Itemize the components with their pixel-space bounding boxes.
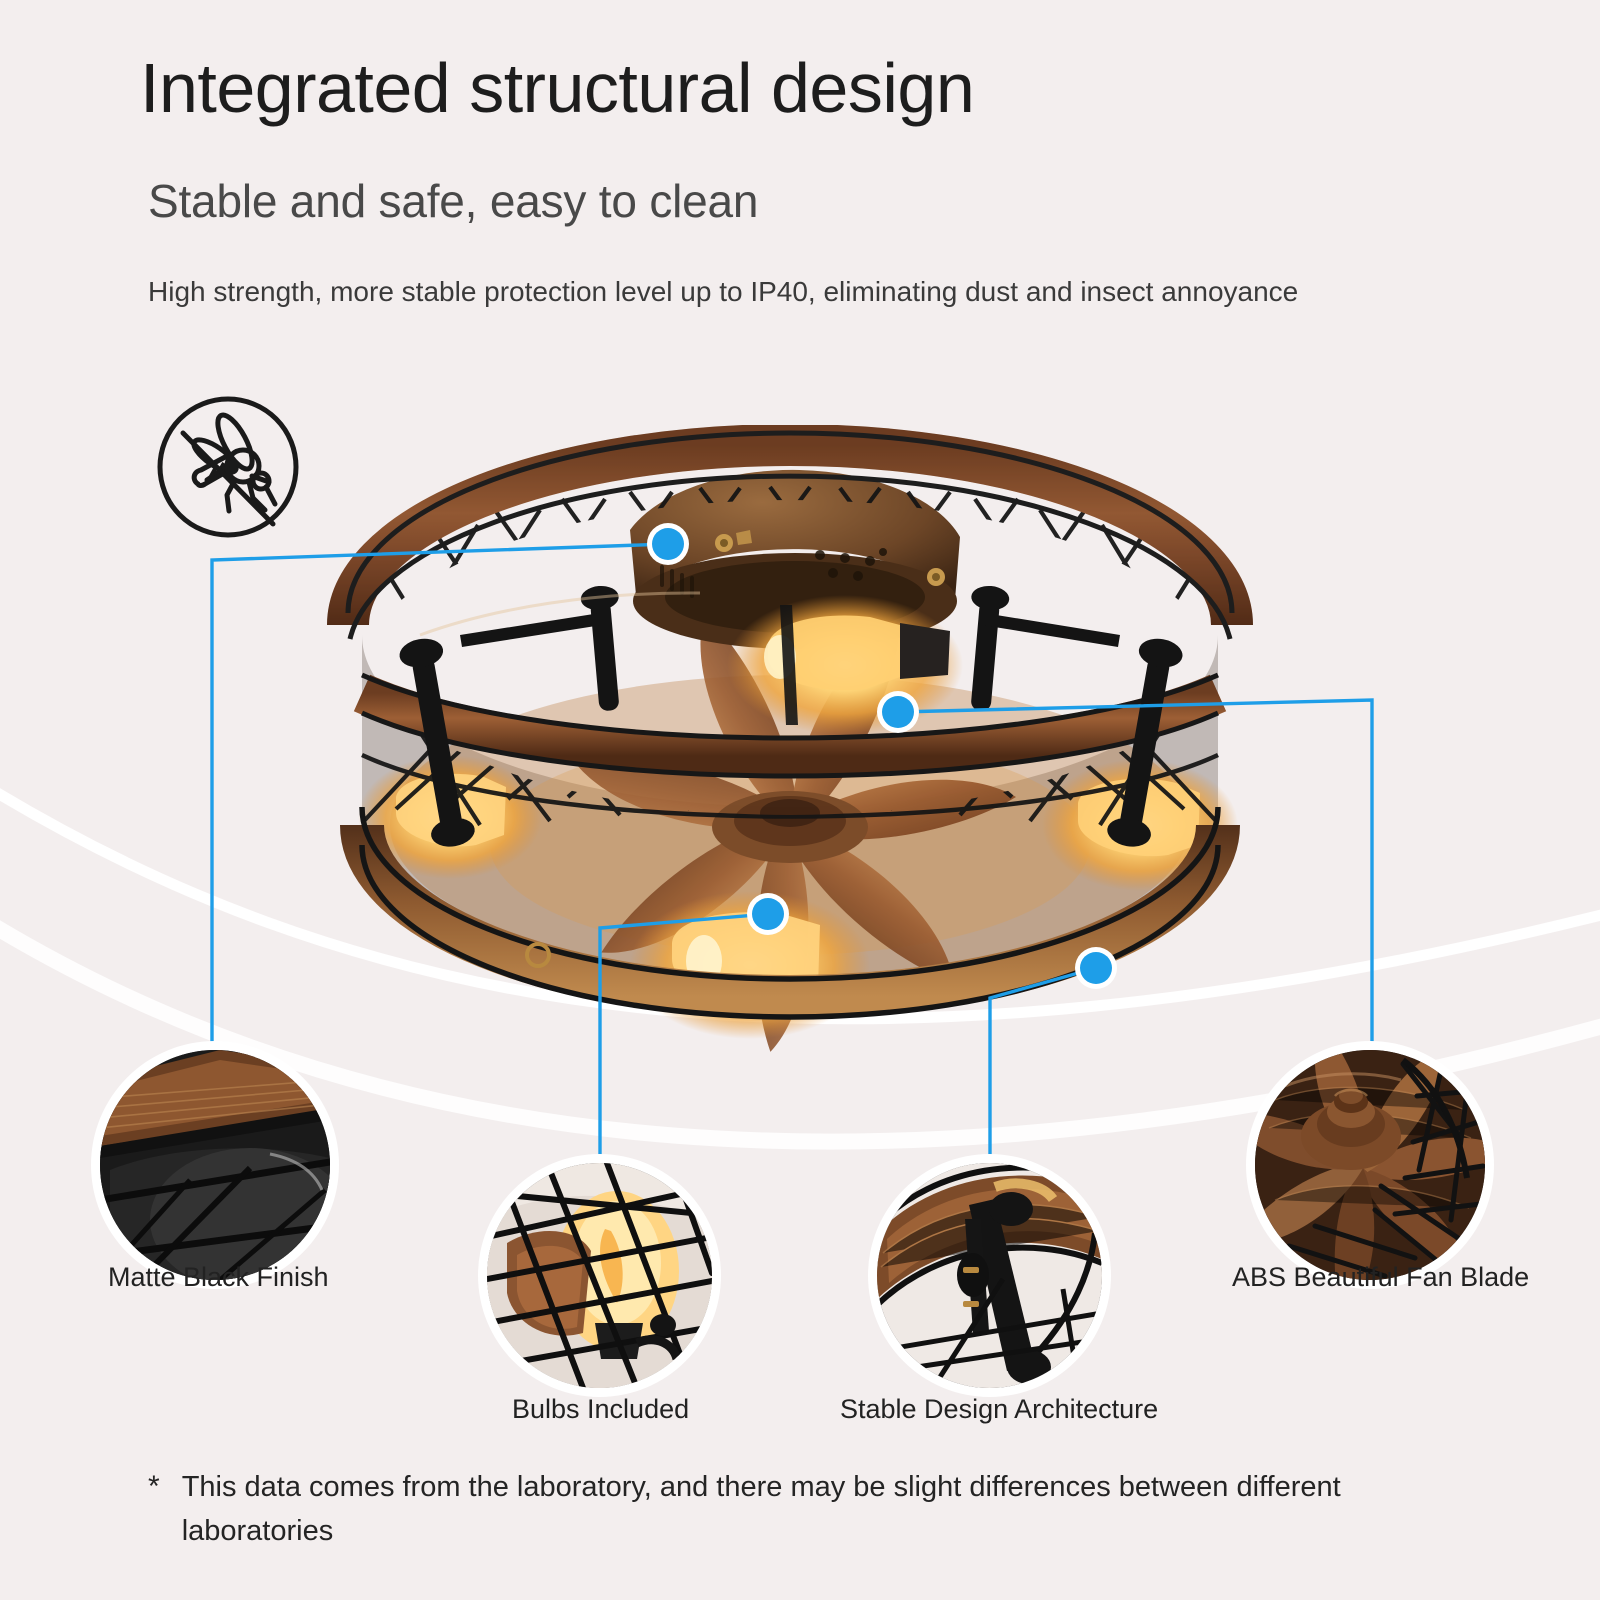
page-subtitle: Stable and safe, easy to clean [148,174,758,228]
footnote: * This data comes from the laboratory, a… [148,1466,1468,1553]
callout-label-stable-design-architecture: Stable Design Architecture [840,1394,1158,1425]
callout-label-matte-black-finish: Matte Black Finish [108,1262,329,1293]
footnote-text: This data comes from the laboratory, and… [182,1466,1468,1553]
page-title: Integrated structural design [140,48,974,128]
callout-thumb-abs-beautiful-fan-blade [1255,1050,1485,1280]
footnote-marker: * [148,1466,160,1553]
callout-label-abs-beautiful-fan-blade: ABS Beautiful Fan Blade [1232,1262,1529,1293]
callout-thumb-matte-black-finish [100,1050,330,1280]
no-mosquito-icon [153,392,303,542]
callout-thumb-stable-design-architecture [877,1163,1102,1388]
infographic-canvas: Integrated structural design Stable and … [0,0,1600,1600]
product-image-ceiling-fan [300,425,1280,1065]
callout-label-bulbs-included: Bulbs Included [512,1394,689,1425]
page-description: High strength, more stable protection le… [148,272,1428,312]
callout-thumb-bulbs-included [487,1163,712,1388]
